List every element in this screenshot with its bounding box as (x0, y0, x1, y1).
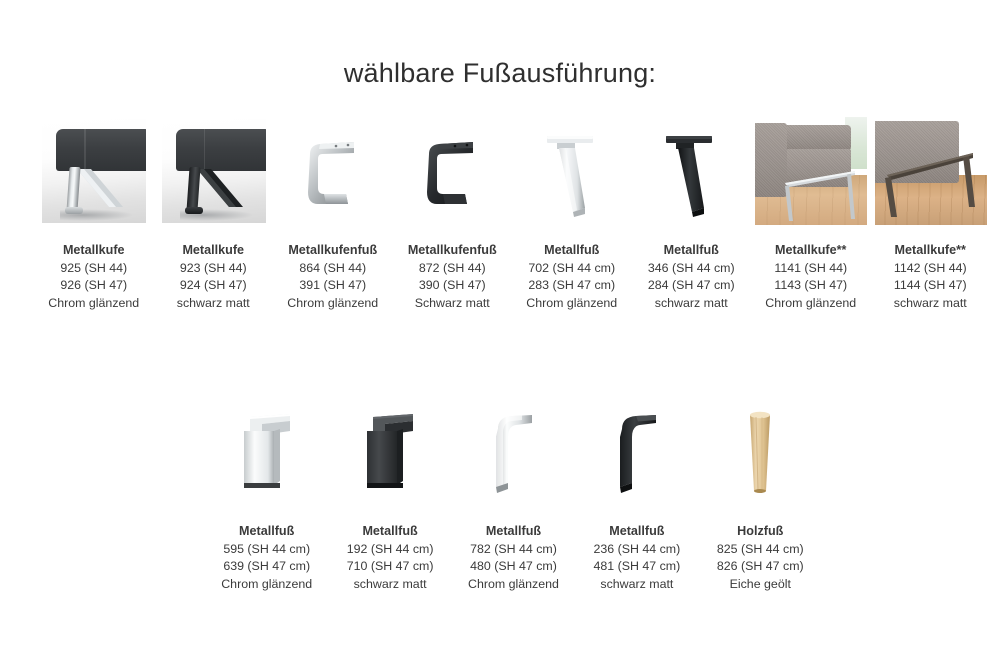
leg-option-item[interactable]: Holzfuß 825 (SH 44 cm) 826 (SH 47 cm) Ei… (699, 392, 822, 593)
leg-option-caption: Metallfuß 236 (SH 44 cm) 481 (SH 47 cm) … (593, 523, 680, 593)
angled-leg-icon (652, 128, 730, 220)
leg-option-finish: schwarz matt (347, 576, 434, 594)
leg-option-code-sh47: 481 (SH 47 cm) (593, 558, 680, 576)
c-bracket-icon (296, 136, 370, 210)
leg-option-code-sh44: 702 (SH 44 cm) (526, 260, 617, 278)
c-bracket-icon (415, 136, 489, 210)
leg-option-name: Metallfuß (468, 523, 559, 541)
leg-option-name: Metallfuß (526, 242, 617, 260)
leg-option-code-sh47: 826 (SH 47 cm) (717, 558, 804, 576)
leg-option-caption: Metallfuß 782 (SH 44 cm) 480 (SH 47 cm) … (468, 523, 559, 593)
wood-leg-icon (737, 405, 783, 499)
leg-option-code-sh47: 1143 (SH 47) (765, 277, 856, 295)
leg-option-item[interactable]: Metallfuß 346 (SH 44 cm) 284 (SH 47 cm) … (632, 113, 752, 312)
leg-option-code-sh44: 595 (SH 44 cm) (221, 541, 312, 559)
leg-option-code-sh44: 346 (SH 44 cm) (648, 260, 735, 278)
black-runner-icon (881, 147, 981, 219)
leg-option-finish: Chrom glänzend (221, 576, 312, 594)
leg-option-item[interactable]: Metallkufe** 1141 (SH 44) 1143 (SH 47) C… (751, 113, 871, 312)
leg-option-caption: Metallkufe** 1141 (SH 44) 1143 (SH 47) C… (765, 242, 856, 312)
leg-option-caption: Metallkufe 923 (SH 44) 924 (SH 47) schwa… (177, 242, 250, 312)
block-foot-chrome-image (205, 392, 328, 507)
block-foot-black-image (328, 392, 451, 507)
leg-options-row-1: Metallkufe 925 (SH 44) 926 (SH 47) Chrom… (34, 113, 990, 312)
leg-option-caption: Metallfuß 192 (SH 44 cm) 710 (SH 47 cm) … (347, 523, 434, 593)
leg-option-name: Holzfuß (717, 523, 804, 541)
leg-option-code-sh44: 782 (SH 44 cm) (468, 541, 559, 559)
c-bracket-foot-chrome-image (273, 113, 393, 228)
leg-option-finish: Chrom glänzend (48, 295, 139, 313)
curved-foot-black-image (575, 392, 698, 507)
leg-option-name: Metallfuß (648, 242, 735, 260)
block-foot-icon (355, 409, 425, 495)
leg-option-item[interactable]: Metallkufenfuß 872 (SH 44) 390 (SH 47) S… (393, 113, 513, 312)
leg-option-finish: Chrom glänzend (287, 295, 378, 313)
leg-option-code-sh47: 284 (SH 47 cm) (648, 277, 735, 295)
sofa-corner-chrome-skid-image (34, 113, 154, 228)
leg-option-caption: Metallfuß 346 (SH 44 cm) 284 (SH 47 cm) … (648, 242, 735, 312)
leg-option-item[interactable]: Metallkufe** 1142 (SH 44) 1144 (SH 47) s… (871, 113, 991, 312)
leg-option-name: Metallkufenfuß (287, 242, 378, 260)
leg-option-caption: Metallfuß 702 (SH 44 cm) 283 (SH 47 cm) … (526, 242, 617, 312)
leg-option-caption: Metallkufenfuß 864 (SH 44) 391 (SH 47) C… (287, 242, 378, 312)
leg-option-name: Metallfuß (221, 523, 312, 541)
leg-option-code-sh44: 236 (SH 44 cm) (593, 541, 680, 559)
leg-option-caption: Holzfuß 825 (SH 44 cm) 826 (SH 47 cm) Ei… (717, 523, 804, 593)
leg-option-finish: Schwarz matt (408, 295, 497, 313)
leg-option-item[interactable]: Metallfuß 702 (SH 44 cm) 283 (SH 47 cm) … (512, 113, 632, 312)
sofa-photo-black-runner-image (871, 113, 991, 228)
leg-options-page: wählbare Fußausführung: (0, 0, 1000, 648)
leg-option-item[interactable]: Metallkufe 923 (SH 44) 924 (SH 47) schwa… (154, 113, 274, 312)
page-title: wählbare Fußausführung: (0, 58, 1000, 89)
sofa-corner-black-skid-image (154, 113, 274, 228)
leg-option-finish: Chrom glänzend (765, 295, 856, 313)
leg-option-item[interactable]: Metallkufenfuß 864 (SH 44) 391 (SH 47) C… (273, 113, 393, 312)
leg-option-code-sh47: 480 (SH 47 cm) (468, 558, 559, 576)
leg-option-code-sh44: 192 (SH 44 cm) (347, 541, 434, 559)
leg-option-name: Metallkufe** (765, 242, 856, 260)
leg-option-code-sh44: 872 (SH 44) (408, 260, 497, 278)
curved-foot-icon (482, 407, 544, 499)
leg-option-code-sh47: 390 (SH 47) (408, 277, 497, 295)
leg-option-name: Metallkufe (48, 242, 139, 260)
c-bracket-foot-black-image (393, 113, 513, 228)
leg-option-code-sh47: 924 (SH 47) (177, 277, 250, 295)
leg-option-finish: Chrom glänzend (526, 295, 617, 313)
angled-leg-icon (533, 128, 611, 220)
leg-option-name: Metallfuß (347, 523, 434, 541)
leg-option-code-sh44: 1142 (SH 44) (894, 260, 967, 278)
leg-option-name: Metallfuß (593, 523, 680, 541)
leg-option-name: Metallkufe** (894, 242, 967, 260)
angled-leg-chrome-image (512, 113, 632, 228)
leg-option-code-sh47: 639 (SH 47 cm) (221, 558, 312, 576)
skid-shape-icon (75, 169, 127, 211)
leg-option-name: Metallkufenfuß (408, 242, 497, 260)
leg-option-code-sh47: 391 (SH 47) (287, 277, 378, 295)
leg-option-code-sh47: 283 (SH 47 cm) (526, 277, 617, 295)
leg-option-finish: schwarz matt (648, 295, 735, 313)
angled-leg-black-image (632, 113, 752, 228)
leg-option-item[interactable]: Metallfuß 595 (SH 44 cm) 639 (SH 47 cm) … (205, 392, 328, 593)
skid-shape-icon (195, 169, 247, 211)
leg-option-code-sh44: 923 (SH 44) (177, 260, 250, 278)
leg-option-code-sh44: 864 (SH 44) (287, 260, 378, 278)
leg-option-caption: Metallkufenfuß 872 (SH 44) 390 (SH 47) S… (408, 242, 497, 312)
leg-option-item[interactable]: Metallfuß 236 (SH 44 cm) 481 (SH 47 cm) … (575, 392, 698, 593)
leg-option-caption: Metallkufe 925 (SH 44) 926 (SH 47) Chrom… (48, 242, 139, 312)
chrome-runner-icon (781, 169, 861, 223)
leg-option-finish: schwarz matt (894, 295, 967, 313)
leg-option-name: Metallkufe (177, 242, 250, 260)
leg-option-item[interactable]: Metallkufe 925 (SH 44) 926 (SH 47) Chrom… (34, 113, 154, 312)
leg-option-finish: schwarz matt (177, 295, 250, 313)
curved-foot-chrome-image (452, 392, 575, 507)
leg-option-code-sh47: 926 (SH 47) (48, 277, 139, 295)
curved-foot-icon (606, 407, 668, 499)
leg-options-row-2: Metallfuß 595 (SH 44 cm) 639 (SH 47 cm) … (205, 392, 822, 593)
leg-option-caption: Metallfuß 595 (SH 44 cm) 639 (SH 47 cm) … (221, 523, 312, 593)
block-foot-icon (232, 409, 302, 495)
leg-option-finish: Eiche geölt (717, 576, 804, 594)
leg-option-finish: schwarz matt (593, 576, 680, 594)
leg-option-item[interactable]: Metallfuß 782 (SH 44 cm) 480 (SH 47 cm) … (452, 392, 575, 593)
leg-option-code-sh44: 1141 (SH 44) (765, 260, 856, 278)
leg-option-finish: Chrom glänzend (468, 576, 559, 594)
wood-leg-oak-image (699, 392, 822, 507)
leg-option-code-sh47: 710 (SH 47 cm) (347, 558, 434, 576)
leg-option-code-sh44: 925 (SH 44) (48, 260, 139, 278)
leg-option-code-sh44: 825 (SH 44 cm) (717, 541, 804, 559)
leg-option-item[interactable]: Metallfuß 192 (SH 44 cm) 710 (SH 47 cm) … (328, 392, 451, 593)
leg-option-caption: Metallkufe** 1142 (SH 44) 1144 (SH 47) s… (894, 242, 967, 312)
sofa-photo-chrome-runner-image (751, 113, 871, 228)
leg-option-code-sh47: 1144 (SH 47) (894, 277, 967, 295)
